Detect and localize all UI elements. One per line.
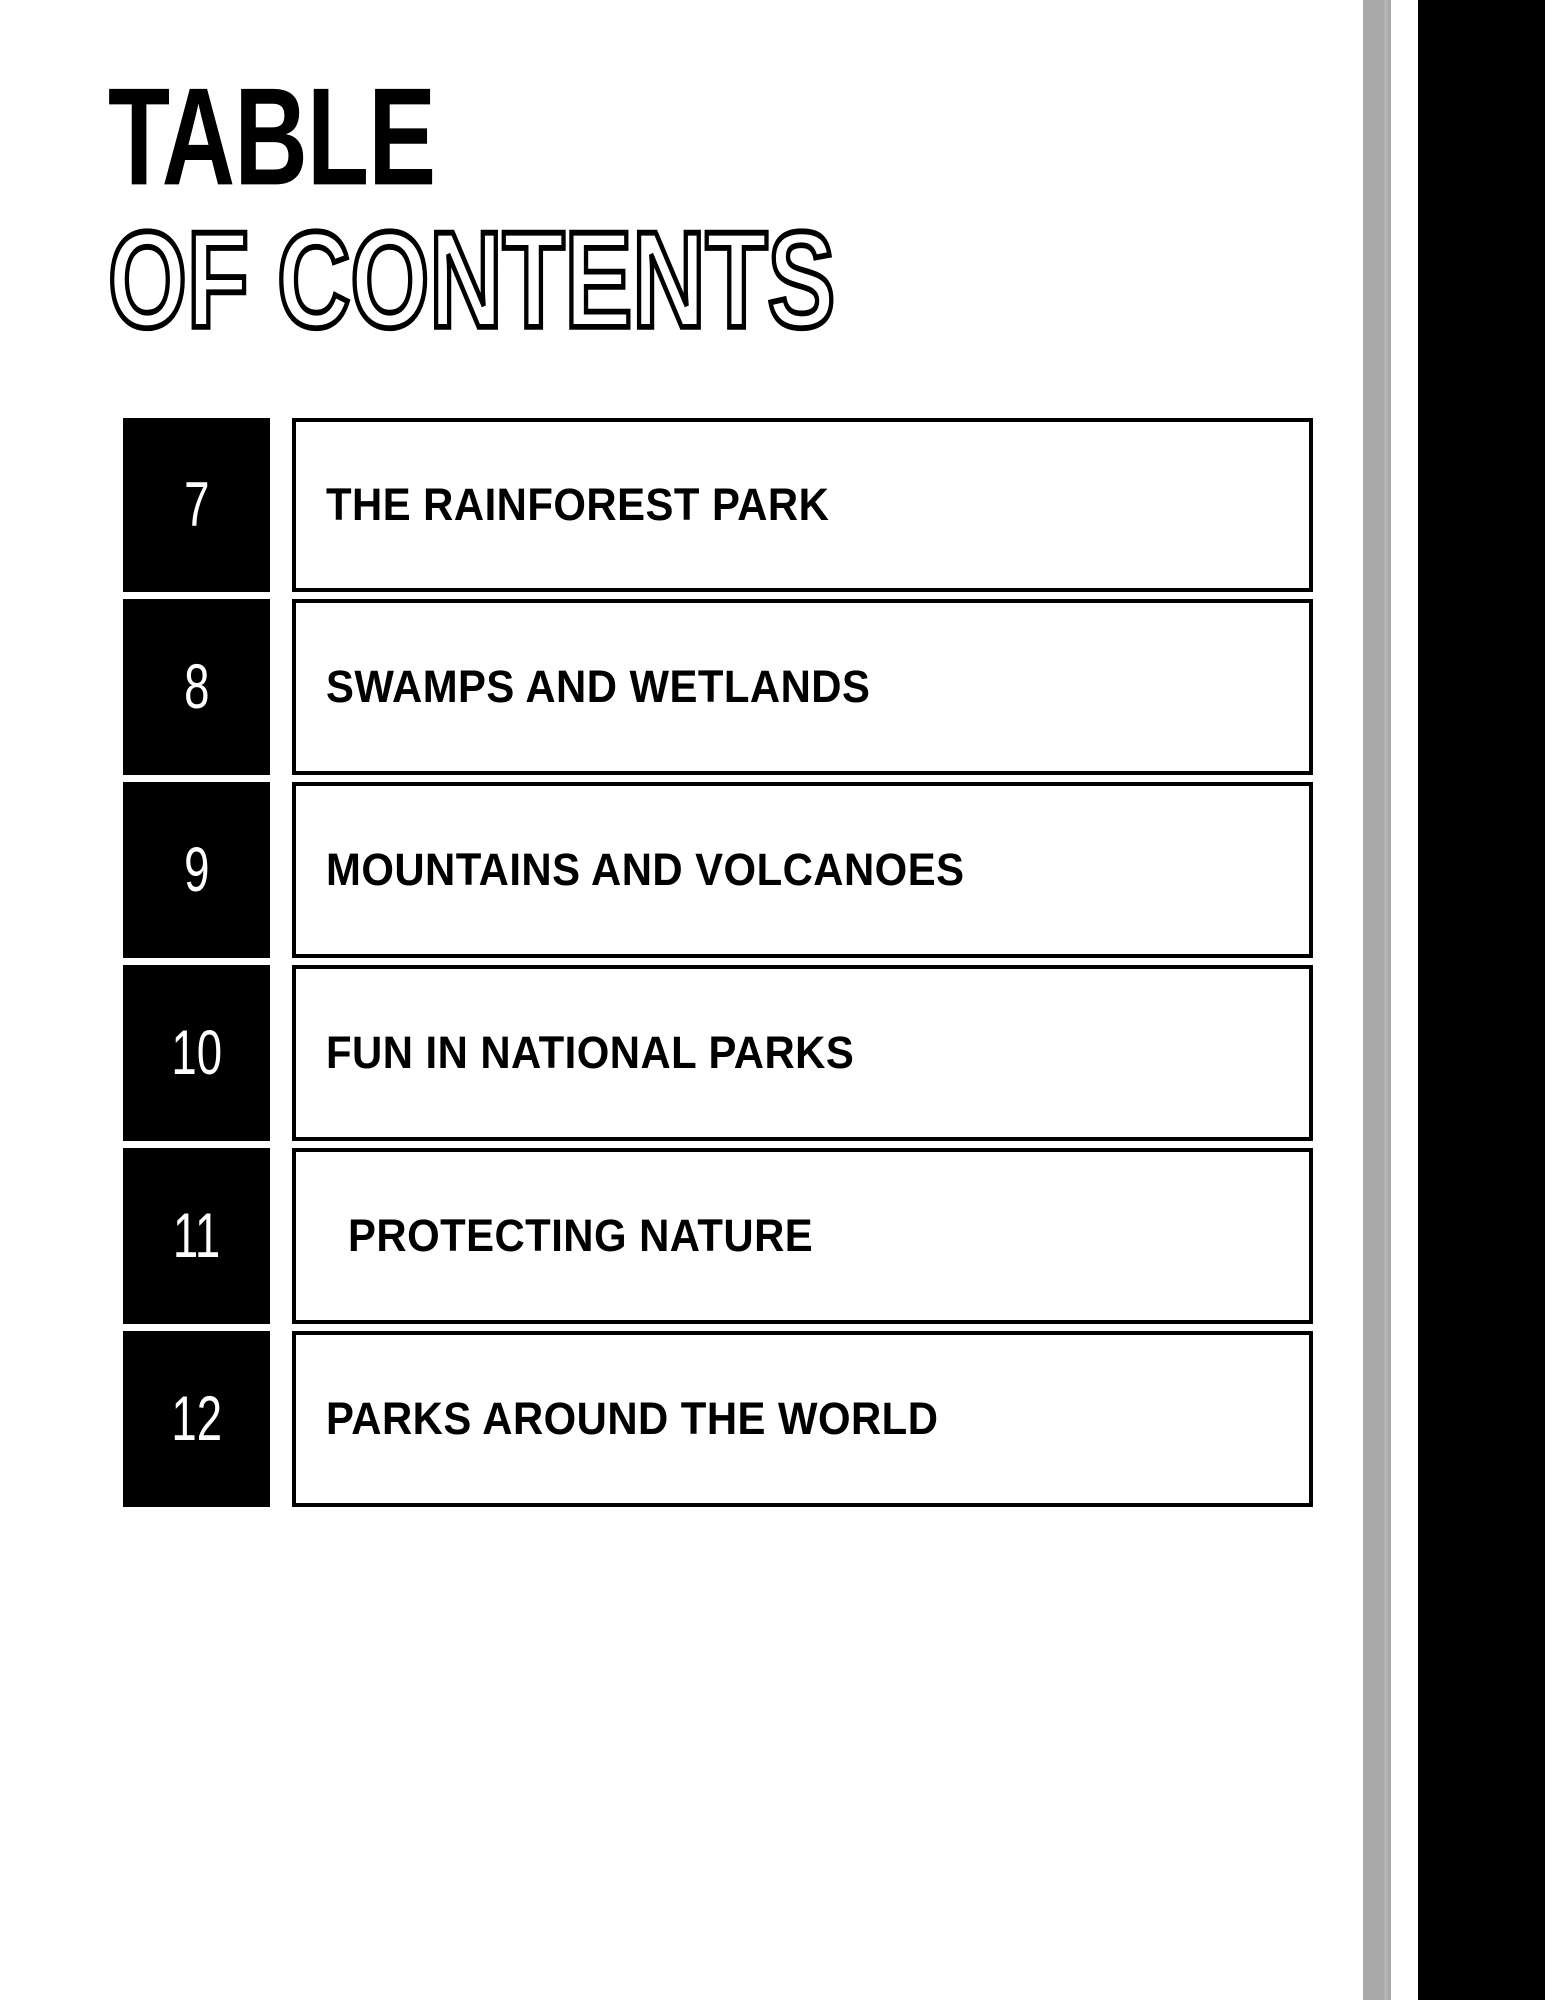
list-item[interactable]: 9 MOUNTAINS AND VOLCANOES bbox=[123, 782, 1313, 958]
chapter-title: PROTECTING NATURE bbox=[348, 1204, 1219, 1268]
chapter-title: FUN IN NATIONAL PARKS bbox=[326, 1021, 1218, 1085]
chapter-title-box[interactable]: MOUNTAINS AND VOLCANOES bbox=[292, 782, 1313, 958]
page-number-badge: 10 bbox=[123, 965, 270, 1141]
page-number-badge: 8 bbox=[123, 599, 270, 775]
list-item[interactable]: 8 SWAMPS AND WETLANDS bbox=[123, 599, 1313, 775]
chapter-title: SWAMPS AND WETLANDS bbox=[326, 655, 1218, 719]
list-item[interactable]: 11 PROTECTING NATURE bbox=[123, 1148, 1313, 1324]
page-number-badge: 7 bbox=[123, 418, 270, 592]
page-number: 10 bbox=[171, 1022, 222, 1085]
list-item[interactable]: 7 THE RAINFOREST PARK bbox=[123, 418, 1313, 592]
table-of-contents-list: 7 THE RAINFOREST PARK 8 SWAMPS AND WETLA… bbox=[123, 418, 1313, 1514]
page-number: 9 bbox=[184, 839, 209, 902]
list-item[interactable]: 10 FUN IN NATIONAL PARKS bbox=[123, 965, 1313, 1141]
page-canvas: TABLE OF CONTENTS 7 THE RAINFOREST PARK … bbox=[0, 0, 1545, 2000]
gray-vertical-bar-highlight bbox=[1384, 0, 1388, 2000]
black-vertical-bar bbox=[1418, 0, 1545, 2000]
chapter-title-box[interactable]: PARKS AROUND THE WORLD bbox=[292, 1331, 1313, 1507]
page-number-badge: 11 bbox=[123, 1148, 270, 1324]
page-title: TABLE OF CONTENTS bbox=[108, 78, 1108, 325]
chapter-title: PARKS AROUND THE WORLD bbox=[326, 1387, 1218, 1451]
page-number: 8 bbox=[184, 656, 209, 719]
page-number-badge: 9 bbox=[123, 782, 270, 958]
chapter-title: MOUNTAINS AND VOLCANOES bbox=[326, 838, 1218, 902]
page-number: 7 bbox=[184, 474, 209, 537]
chapter-title-box[interactable]: SWAMPS AND WETLANDS bbox=[292, 599, 1313, 775]
chapter-title-box[interactable]: PROTECTING NATURE bbox=[292, 1148, 1313, 1324]
page-number-badge: 12 bbox=[123, 1331, 270, 1507]
list-item[interactable]: 12 PARKS AROUND THE WORLD bbox=[123, 1331, 1313, 1507]
page-number: 11 bbox=[173, 1205, 220, 1268]
title-line-of-contents: OF CONTENTS bbox=[108, 219, 968, 342]
chapter-title-box[interactable]: FUN IN NATIONAL PARKS bbox=[292, 965, 1313, 1141]
title-line-table: TABLE bbox=[108, 78, 928, 197]
chapter-title-box[interactable]: THE RAINFOREST PARK bbox=[292, 418, 1313, 592]
chapter-title: THE RAINFOREST PARK bbox=[326, 473, 1218, 537]
page-number: 12 bbox=[171, 1388, 222, 1451]
